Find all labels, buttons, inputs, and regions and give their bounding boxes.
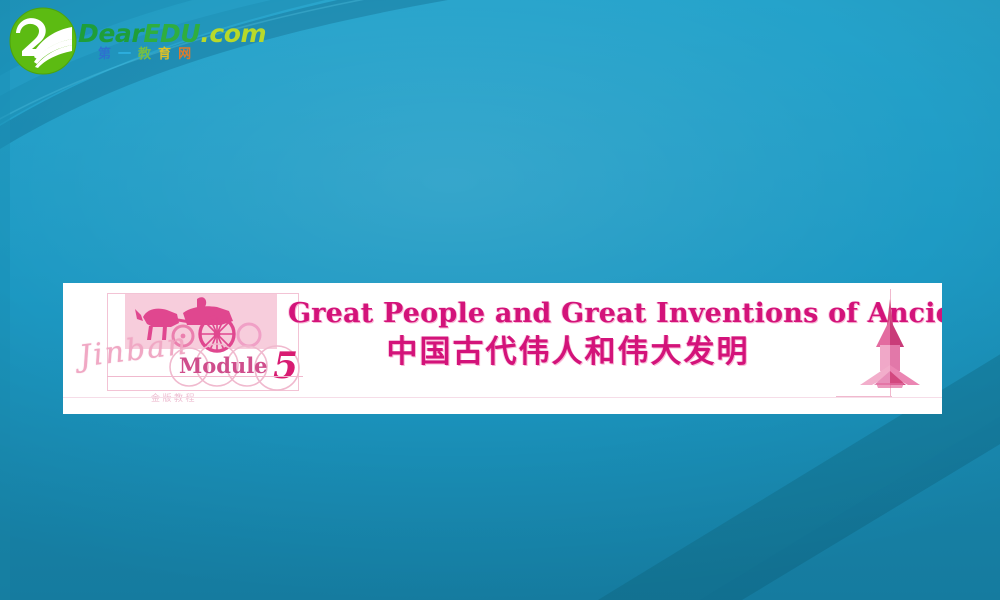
logo-chinese-subtitle: 第一教育网 (98, 48, 264, 62)
presentation-slide: DearEDU.com 第一教育网 (0, 0, 1000, 600)
title-english: Great People and Great Inventions of Anc… (288, 297, 848, 331)
logo-cn-char-4: 育 (158, 47, 178, 62)
banner-titles: Great People and Great Inventions of Anc… (288, 297, 848, 371)
dearedu-logo[interactable]: DearEDU.com 第一教育网 (4, 4, 266, 78)
banner-bottom-rule (63, 397, 942, 398)
logo-cn-char-1: 第 (98, 47, 118, 62)
green-circle-book-2-icon (8, 6, 78, 76)
logo-cn-char-2: 一 (118, 47, 138, 62)
dearedu-wordmark-text: DearEDU.com (78, 20, 264, 47)
logo-cn-char-5: 网 (178, 47, 198, 62)
pagoda-tower-icon (846, 289, 932, 401)
wordmark-dear: Dear (78, 19, 143, 48)
wordmark-dotcom: .com (200, 19, 266, 48)
pagoda-decoration (846, 289, 932, 401)
title-banner: Jinban Module 5 金版教程 Great People and Gr… (63, 283, 942, 414)
dearedu-wordmark: DearEDU.com 第一教育网 (78, 20, 264, 62)
module-divider (107, 376, 303, 377)
title-chinese: 中国古代伟人和伟大发明 (288, 333, 848, 371)
module-label: Module (179, 353, 268, 378)
wordmark-edu: EDU (143, 19, 200, 48)
logo-cn-char-3: 教 (138, 47, 158, 62)
